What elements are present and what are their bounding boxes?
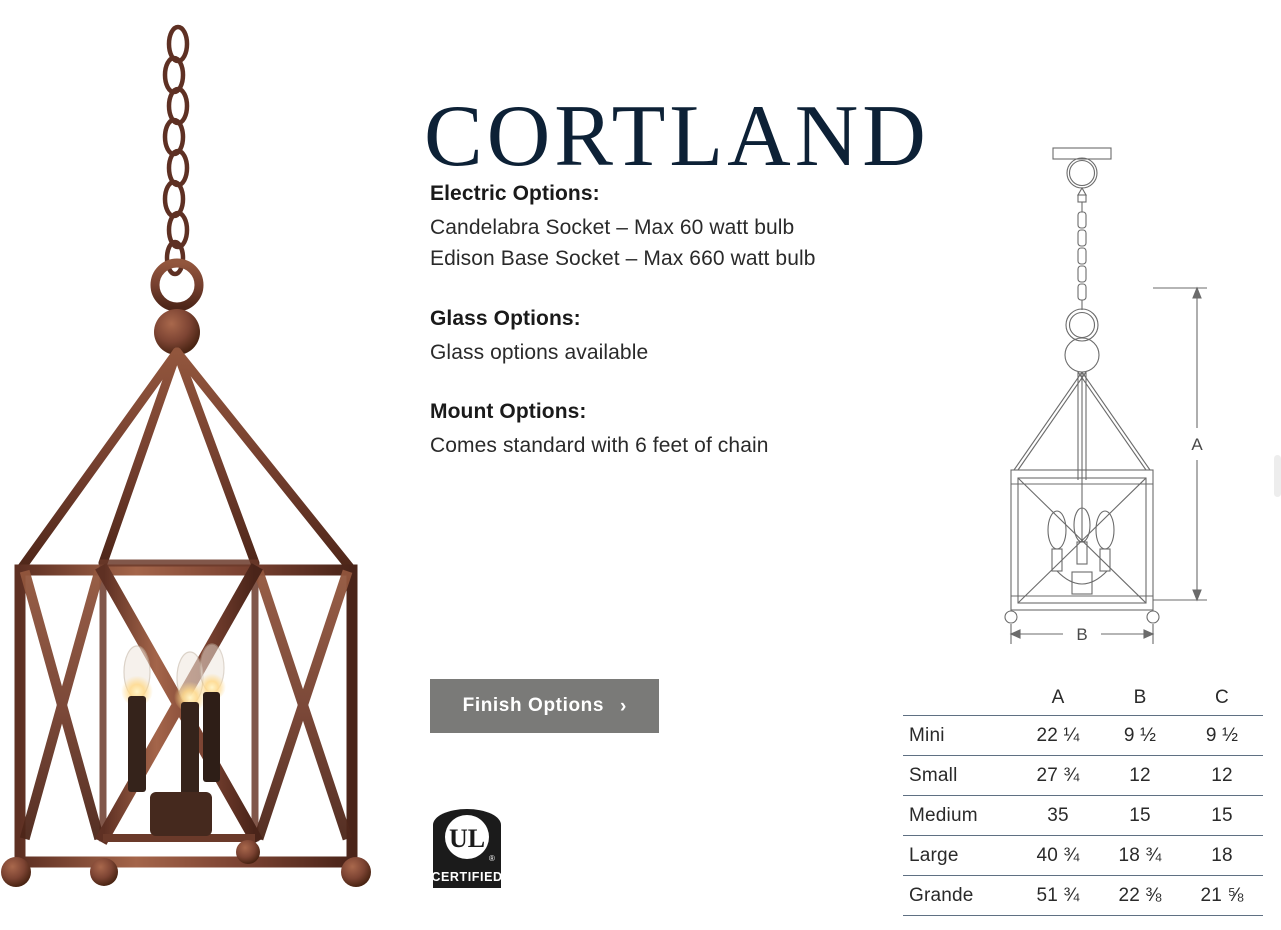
cell-size: Grande [903,876,1017,916]
spec-block-electric: Electric Options: Candelabra Socket – Ma… [430,182,816,275]
cell-a: 51 ¾ [1017,876,1099,916]
cell-c: 12 [1181,756,1263,796]
product-photo [0,0,420,925]
cell-c: 21 ⅝ [1181,876,1263,916]
column-header-c: C [1181,678,1263,716]
table-row: Large 40 ¾ 18 ¾ 18 [903,836,1263,876]
column-header-size [903,678,1017,716]
ul-certified-logo: UL ® CERTIFIED [430,809,504,891]
dimensions-table: A B C Mini 22 ¼ 9 ½ 9 ½ Small 27 ¾ 12 12… [903,678,1263,916]
cell-c: 9 ½ [1181,716,1263,756]
technical-dimension-diagram: A B [985,140,1245,650]
cell-size: Mini [903,716,1017,756]
spec-block-glass: Glass Options: Glass options available [430,307,648,369]
spec-line-candelabra: Candelabra Socket – Max 60 watt bulb [430,213,816,244]
product-photo-illustration [0,0,420,925]
cell-a: 35 [1017,796,1099,836]
registered-icon: ® [489,854,495,863]
chevron-right-icon: › [620,697,626,716]
cell-b: 22 ⅜ [1099,876,1181,916]
page-scrollbar-thumb[interactable] [1274,455,1281,497]
ul-certified-caption: CERTIFIED [431,870,502,884]
dimension-label-b: B [1076,625,1087,644]
spec-heading-mount: Mount Options: [430,400,769,424]
column-header-b: B [1099,678,1181,716]
cell-c: 15 [1181,796,1263,836]
lantern-line-drawing: A B [985,140,1245,650]
cell-b: 12 [1099,756,1181,796]
candle-bulbs-graphic [121,644,226,836]
cell-a: 27 ¾ [1017,756,1099,796]
column-header-a: A [1017,678,1099,716]
candles-line-graphic [1048,372,1114,594]
spec-line-edison: Edison Base Socket – Max 660 watt bulb [430,244,816,275]
cell-b: 18 ¾ [1099,836,1181,876]
ul-mark-text: UL [449,824,485,853]
cell-a: 40 ¾ [1017,836,1099,876]
finish-options-label: Finish Options [463,695,604,717]
spec-line-glass: Glass options available [430,338,648,369]
cell-b: 9 ½ [1099,716,1181,756]
cell-size: Large [903,836,1017,876]
table-body: Mini 22 ¼ 9 ½ 9 ½ Small 27 ¾ 12 12 Mediu… [903,716,1263,916]
suspension-ring-graphic [155,263,199,307]
table-header-row: A B C [903,678,1263,716]
table-row: Mini 22 ¼ 9 ½ 9 ½ [903,716,1263,756]
chain-line-graphic [1078,202,1086,310]
cell-size: Small [903,756,1017,796]
cell-c: 18 [1181,836,1263,876]
table-row: Grande 51 ¾ 22 ⅜ 21 ⅝ [903,876,1263,916]
spec-heading-electric: Electric Options: [430,182,816,206]
page-title: CORTLAND [424,93,930,181]
canopy-graphic [1053,148,1111,159]
spec-line-mount: Comes standard with 6 feet of chain [430,431,769,462]
cell-b: 15 [1099,796,1181,836]
table-row: Medium 35 15 15 [903,796,1263,836]
cell-size: Medium [903,796,1017,836]
spec-heading-glass: Glass Options: [430,307,648,331]
table-row: Small 27 ¾ 12 12 [903,756,1263,796]
spec-block-mount: Mount Options: Comes standard with 6 fee… [430,400,769,462]
cell-a: 22 ¼ [1017,716,1099,756]
ul-certified-icon: UL ® CERTIFIED [430,809,504,891]
finish-options-button[interactable]: Finish Options › [430,679,659,733]
chain-graphic [165,27,187,274]
dimension-label-a: A [1191,435,1203,454]
